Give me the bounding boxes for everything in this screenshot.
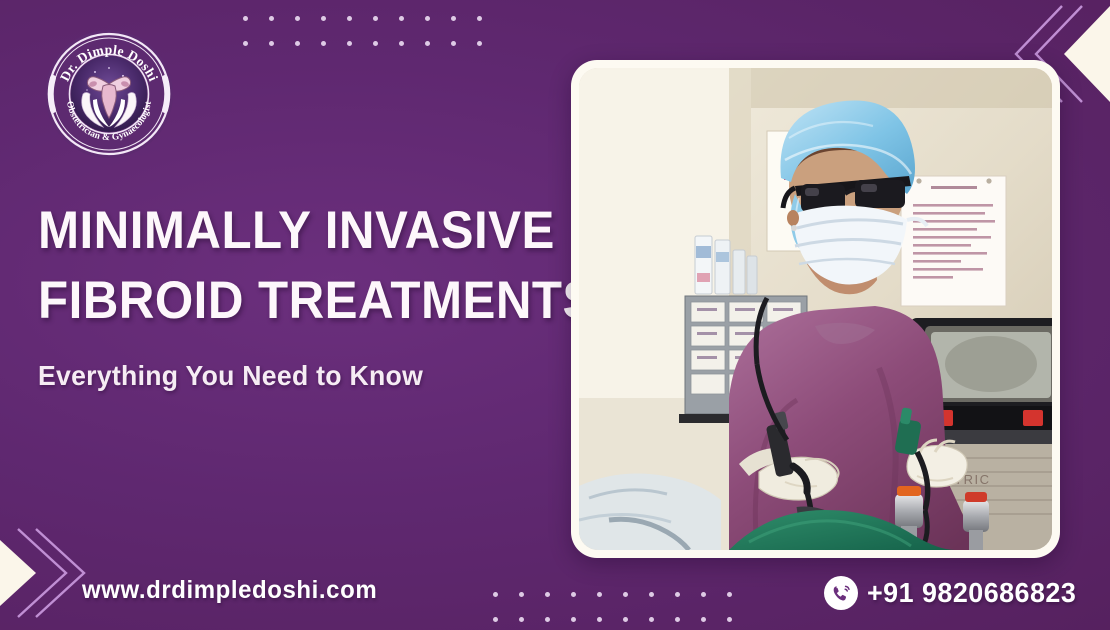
dot	[482, 607, 508, 630]
dot	[440, 6, 466, 31]
dot	[638, 582, 664, 607]
headline-line-2: FIBROID TREATMENTS	[38, 266, 522, 336]
dot	[612, 582, 638, 607]
dot	[414, 6, 440, 31]
dot	[508, 607, 534, 630]
dot	[388, 31, 414, 56]
dot	[440, 31, 466, 56]
phone-contact[interactable]: +91 9820686823	[824, 576, 1085, 610]
headline-line-1: MINIMALLY INVASIVE	[38, 196, 522, 266]
dot	[664, 582, 690, 607]
dot	[232, 6, 258, 31]
dot	[534, 582, 560, 607]
dot	[466, 6, 492, 31]
dot	[258, 6, 284, 31]
wall-poster-right	[901, 176, 1006, 306]
dot	[232, 31, 258, 56]
dot	[414, 31, 440, 56]
dot-grid-bottom	[482, 582, 742, 630]
dot	[336, 31, 362, 56]
phone-number[interactable]: +91 9820686823	[867, 577, 1076, 609]
dot	[362, 6, 388, 31]
dot	[586, 582, 612, 607]
dot	[362, 31, 388, 56]
dot	[310, 31, 336, 56]
surgery-photo: ATRIC	[579, 68, 1052, 550]
phone-call-icon[interactable]	[824, 576, 858, 610]
subtitle: Everything You Need to Know	[38, 360, 532, 392]
dot	[586, 607, 612, 630]
dot	[284, 31, 310, 56]
dot	[388, 6, 414, 31]
dot	[690, 582, 716, 607]
website-link[interactable]: www.drdimpledoshi.com	[82, 576, 377, 605]
dot	[258, 31, 284, 56]
dot	[508, 582, 534, 607]
dot	[560, 582, 586, 607]
page-title: MINIMALLY INVASIVE FIBROID TREATMENTS	[38, 196, 522, 336]
brand-logo[interactable]: Dr. Dimple Doshi Obstetrician & Gynaecol…	[43, 28, 175, 160]
dot	[466, 31, 492, 56]
dot	[716, 582, 742, 607]
dot	[560, 607, 586, 630]
headline-block: MINIMALLY INVASIVE FIBROID TREATMENTS Ev…	[38, 196, 558, 392]
dot	[716, 607, 742, 630]
dot	[690, 607, 716, 630]
dot	[310, 6, 336, 31]
dot	[612, 607, 638, 630]
dot-grid-top	[232, 6, 492, 56]
dot	[482, 582, 508, 607]
dot	[534, 607, 560, 630]
promo-banner: Dr. Dimple Doshi Obstetrician & Gynaecol…	[0, 0, 1110, 630]
chevron-right-icon	[0, 523, 92, 628]
photo-card: ATRIC	[571, 60, 1060, 558]
dot	[284, 6, 310, 31]
dot	[336, 6, 362, 31]
dot	[638, 607, 664, 630]
dot	[664, 607, 690, 630]
